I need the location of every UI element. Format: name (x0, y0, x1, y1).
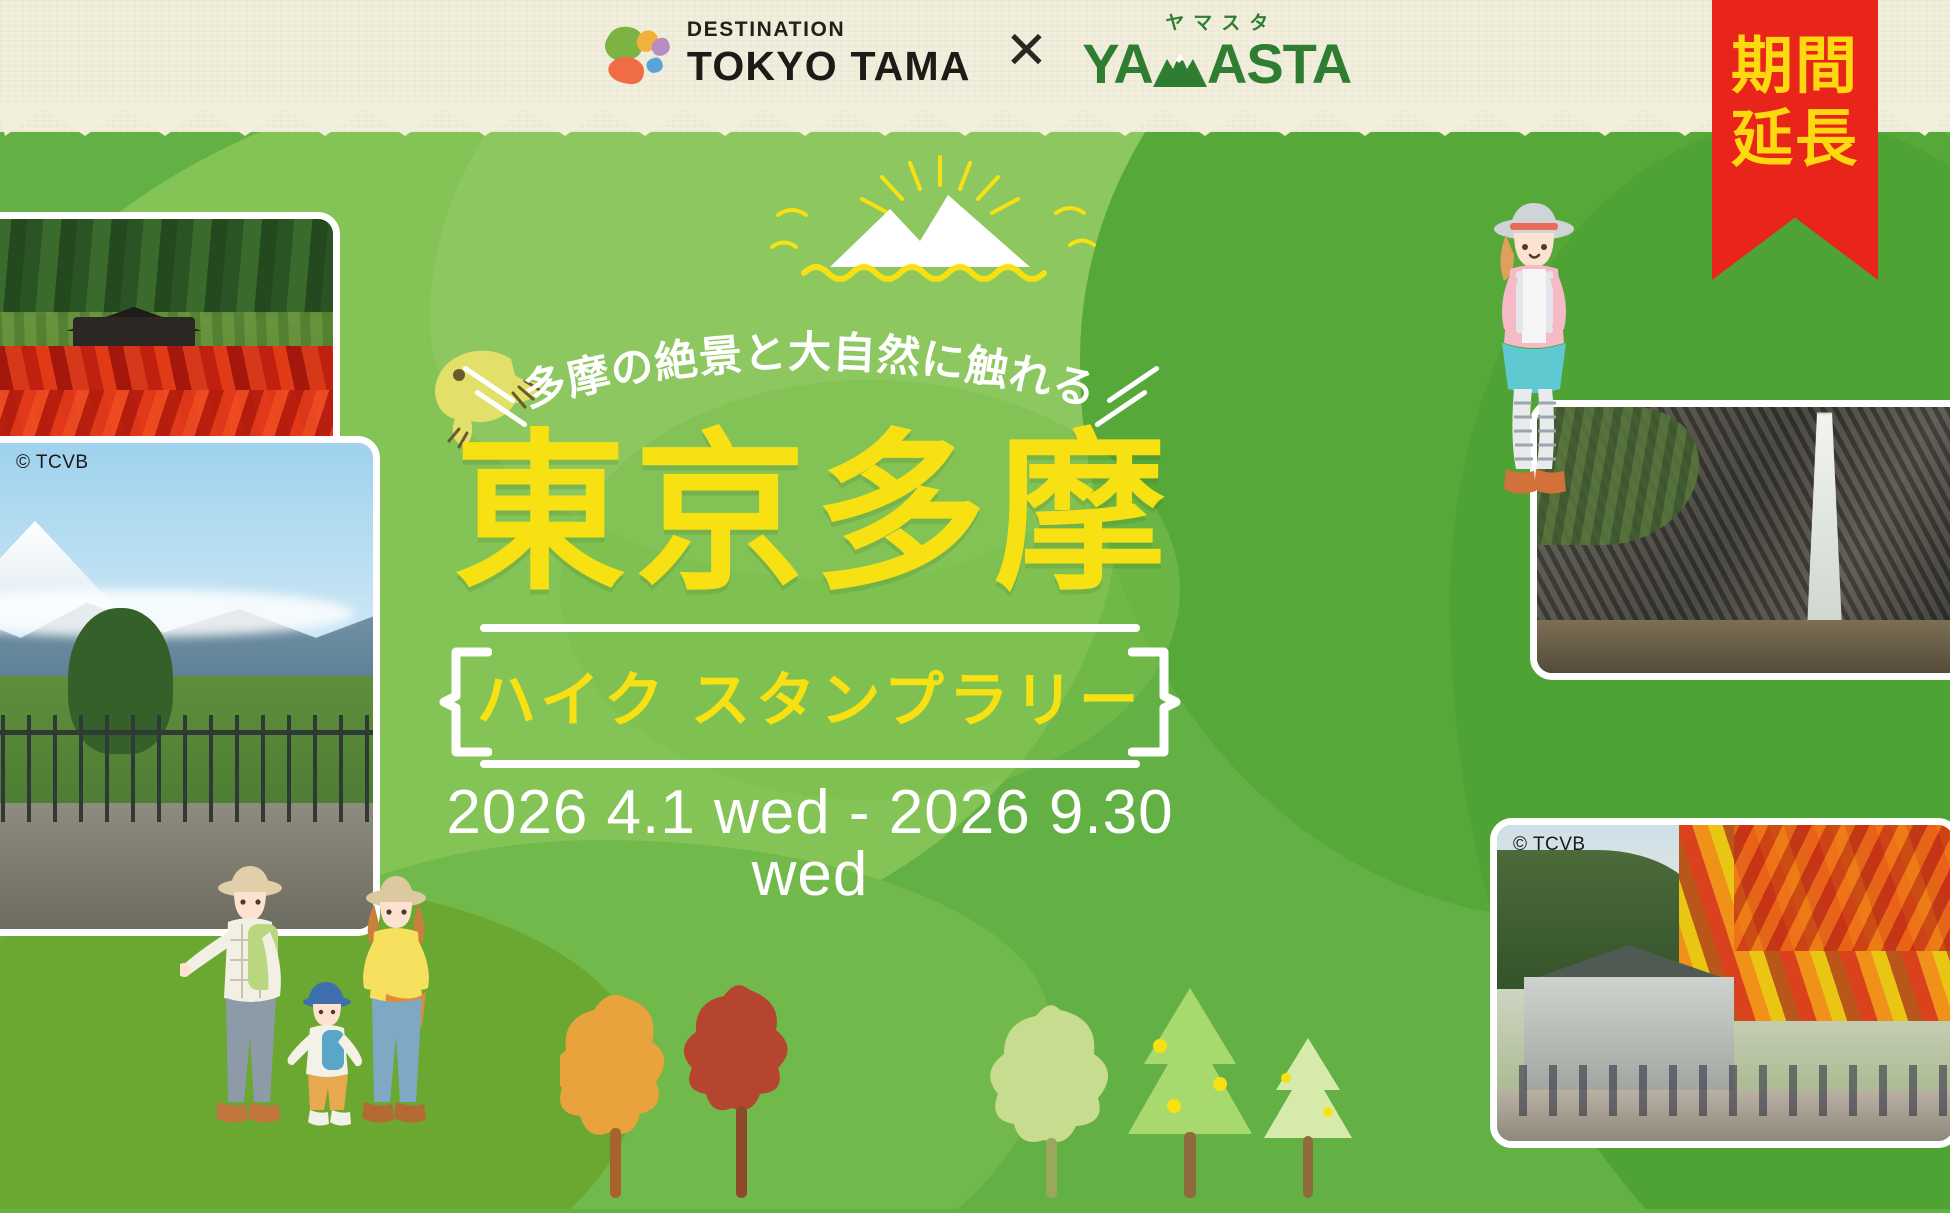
bracket-left-icon (436, 646, 492, 758)
hiking-family-illustration (180, 840, 510, 1210)
yamasta-ya: YA (1082, 36, 1153, 92)
bracket-right-icon (1128, 646, 1184, 758)
period-extended-ribbon: 期間 延長 (1712, 0, 1878, 280)
mountain-emblem (770, 155, 1110, 295)
trees-illustration (560, 980, 1460, 1213)
photo-autumn-station (1490, 818, 1950, 1148)
yamasta-asta: ASTA (1207, 36, 1351, 92)
divider-bottom (480, 760, 1140, 768)
campaign-dates: 2026 4.1 wed - 2026 9.30 wed (430, 782, 1190, 906)
waterfall-pool (1537, 620, 1950, 673)
autumn-foliage-front (1734, 825, 1950, 951)
center-content: 多摩の絶景と大自然に触れる 東京多摩 ハイク スタンプラリー 2026 4.1 … (430, 330, 1190, 906)
cross-separator-icon: ✕ (1005, 25, 1049, 77)
destination-tokyo-tama-logo[interactable]: DESTINATION TOKYO TAMA (599, 19, 971, 87)
autumn-people (1497, 1065, 1950, 1116)
photo-azalea (0, 212, 340, 470)
yamasta-main-label: YA ASTA (1082, 36, 1351, 92)
promo-banner: © TCVB © TCVB (0, 0, 1950, 1213)
main-title: 東京多摩 (430, 428, 1190, 600)
kana-subtitle-row: ハイク スタンプラリー (430, 642, 1190, 760)
subtitle-text: 多摩の絶景と大自然に触れる (518, 330, 1102, 416)
subtitle-arc: 多摩の絶景と大自然に触れる (430, 330, 1190, 426)
yamasta-mountain-icon (1151, 49, 1209, 89)
divider-top (480, 624, 1140, 632)
fuji-railing (0, 715, 373, 822)
hiker-woman-illustration (1470, 195, 1600, 565)
kana-subtitle: ハイク スタンプラリー (476, 671, 1143, 731)
tokyo-tama-petal-icon (599, 21, 671, 85)
yamasta-ruby-label: ヤマスタ (1156, 14, 1277, 33)
azalea-trees (0, 219, 333, 317)
header-logos: DESTINATION TOKYO TAMA ✕ ヤマスタ YA ASTA (0, 0, 1950, 105)
credit-autumn: © TCVB (1513, 834, 1586, 856)
ribbon-text: 期間 延長 (1712, 30, 1878, 176)
logo-destination-label: DESTINATION (687, 19, 971, 40)
ribbon-line-2: 延長 (1731, 103, 1859, 176)
logo-tokyo-tama-label: TOKYO TAMA (687, 46, 971, 87)
header-zigzag-edge (0, 102, 1950, 148)
ribbon-line-1: 期間 (1731, 30, 1859, 103)
yamasta-logo[interactable]: ヤマスタ YA ASTA (1082, 14, 1351, 92)
credit-fuji: © TCVB (16, 452, 89, 474)
svg-text:多摩の絶景と大自然に触れる: 多摩の絶景と大自然に触れる (518, 330, 1102, 416)
